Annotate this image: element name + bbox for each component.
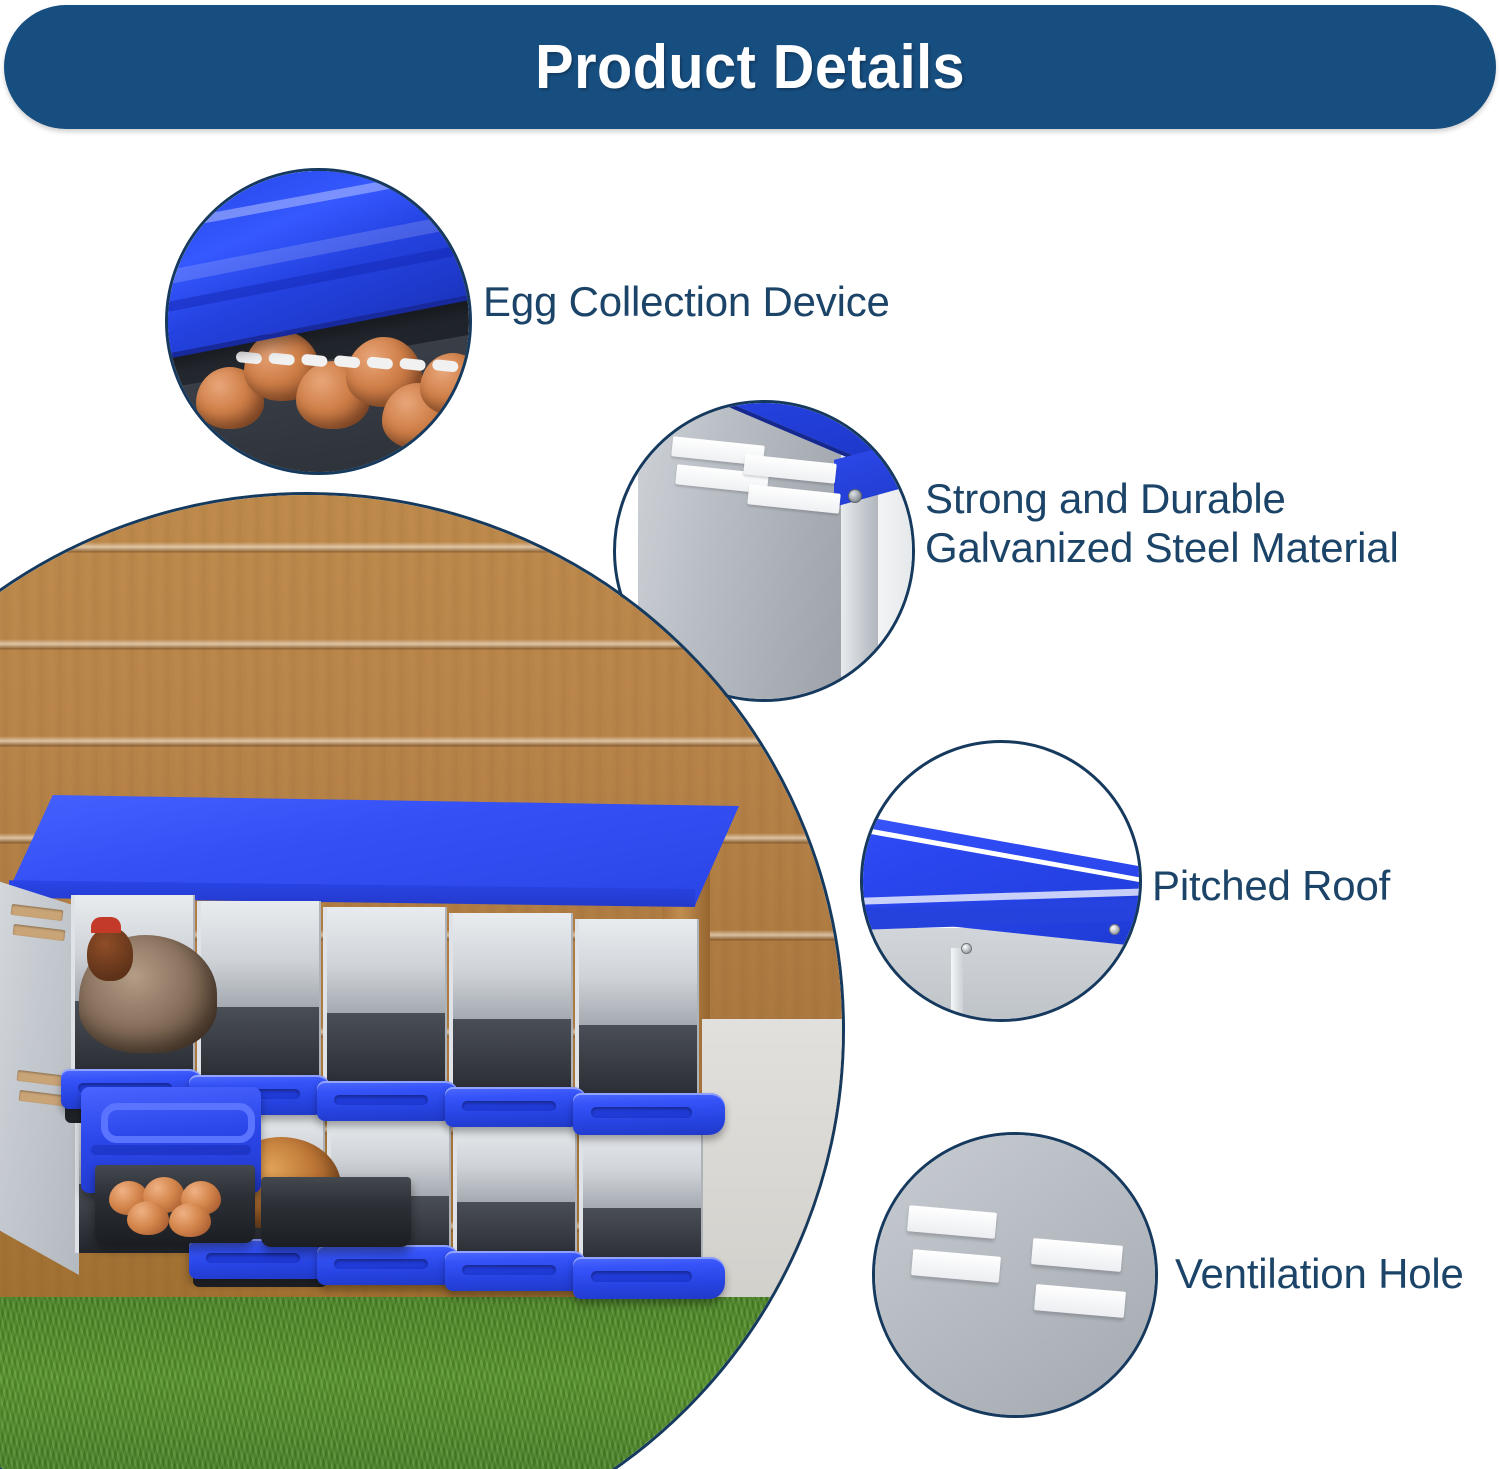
chicken-comb: [91, 917, 121, 933]
feature-label-pitched-roof: Pitched Roof: [1152, 862, 1390, 911]
header-banner: Product Details: [4, 5, 1496, 129]
nesting-box-product: [0, 795, 795, 1355]
product-details-infographic: Product Details: [0, 0, 1500, 1469]
egg-collection-illustration: [168, 171, 469, 472]
egg-roll-out-tray[interactable]: [317, 1245, 459, 1285]
main-product-photo: [0, 492, 845, 1469]
roof-screw: [961, 943, 972, 954]
feature-label-galvanized-steel: Strong and Durable Galvanized Steel Mate…: [925, 475, 1399, 572]
feature-image-pitched-roof: [860, 740, 1142, 1022]
egg-roll-out-tray[interactable]: [445, 1251, 587, 1291]
pitched-roof-illustration: [863, 743, 1139, 1019]
egg-collection-bin: [261, 1177, 411, 1247]
feature-label-ventilation-hole: Ventilation Hole: [1175, 1250, 1464, 1299]
roof-screw: [1109, 924, 1120, 935]
feature-image-ventilation-hole: [872, 1132, 1158, 1418]
ventilation-hole-illustration: [875, 1135, 1155, 1415]
roof-screw: [848, 489, 862, 503]
feature-label-egg-collection-device: Egg Collection Device: [483, 278, 890, 327]
nest-compartment: [449, 913, 573, 1109]
nest-compartment: [453, 1121, 577, 1271]
chicken-head: [87, 927, 133, 981]
steel-body: [860, 928, 1142, 1022]
steel-back-panel: [878, 465, 915, 702]
nest-compartment: [323, 907, 447, 1103]
nest-compartment: [579, 1127, 703, 1277]
nest-compartment: [575, 919, 699, 1115]
page-title: Product Details: [535, 32, 965, 103]
egg-roll-out-tray[interactable]: [573, 1257, 725, 1299]
steel-divider-post: [951, 948, 963, 1022]
egg-roll-out-tray[interactable]: [573, 1093, 725, 1135]
egg-roll-out-tray[interactable]: [445, 1087, 587, 1127]
egg-collection-bin: [95, 1165, 255, 1243]
egg-roll-out-tray[interactable]: [317, 1081, 459, 1121]
feature-image-egg-collection-device: [165, 168, 472, 475]
